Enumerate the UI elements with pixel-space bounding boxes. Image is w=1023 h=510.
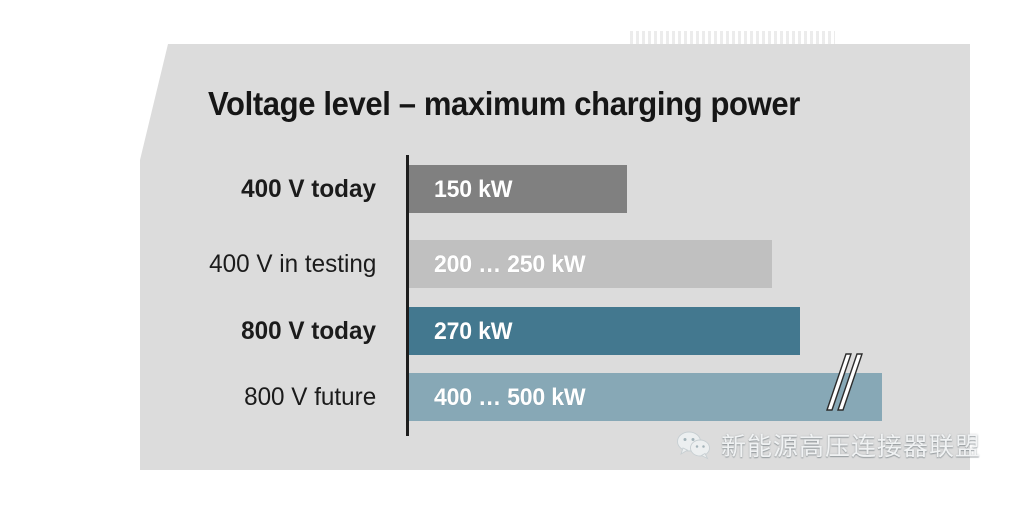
bar-800v-today[interactable]: 270 kW (409, 307, 800, 355)
bar-category-label: 800 V future (244, 373, 376, 421)
bar-value-label: 150 kW (434, 165, 512, 213)
wechat-icon (676, 430, 712, 460)
bar-row: 800 V today 270 kW (0, 307, 1023, 355)
bar-value-label: 400 … 500 kW (434, 373, 585, 421)
bar-400v-today[interactable]: 150 kW (409, 165, 627, 213)
bar-value-label: 270 kW (434, 307, 512, 355)
bar-value-label: 200 … 250 kW (434, 240, 585, 288)
bar-row: 400 V in testing 200 … 250 kW (0, 240, 1023, 288)
bar-800v-future[interactable]: 400 … 500 kW (409, 373, 882, 421)
bar-category-label: 800 V today (241, 307, 376, 355)
bar-row: 400 V today 150 kW (0, 165, 1023, 213)
watermark-text: 新能源高压连接器联盟 (721, 427, 981, 463)
watermark: 新能源高压连接器联盟 (676, 427, 981, 463)
bar-category-label: 400 V in testing (209, 240, 376, 288)
bar-category-label: 400 V today (241, 165, 376, 213)
bar-400v-in-testing[interactable]: 200 … 250 kW (409, 240, 772, 288)
bar-row: 800 V future 400 … 500 kW (0, 373, 1023, 421)
slide-panel: Voltage level – maximum charging power 4… (0, 0, 1023, 510)
